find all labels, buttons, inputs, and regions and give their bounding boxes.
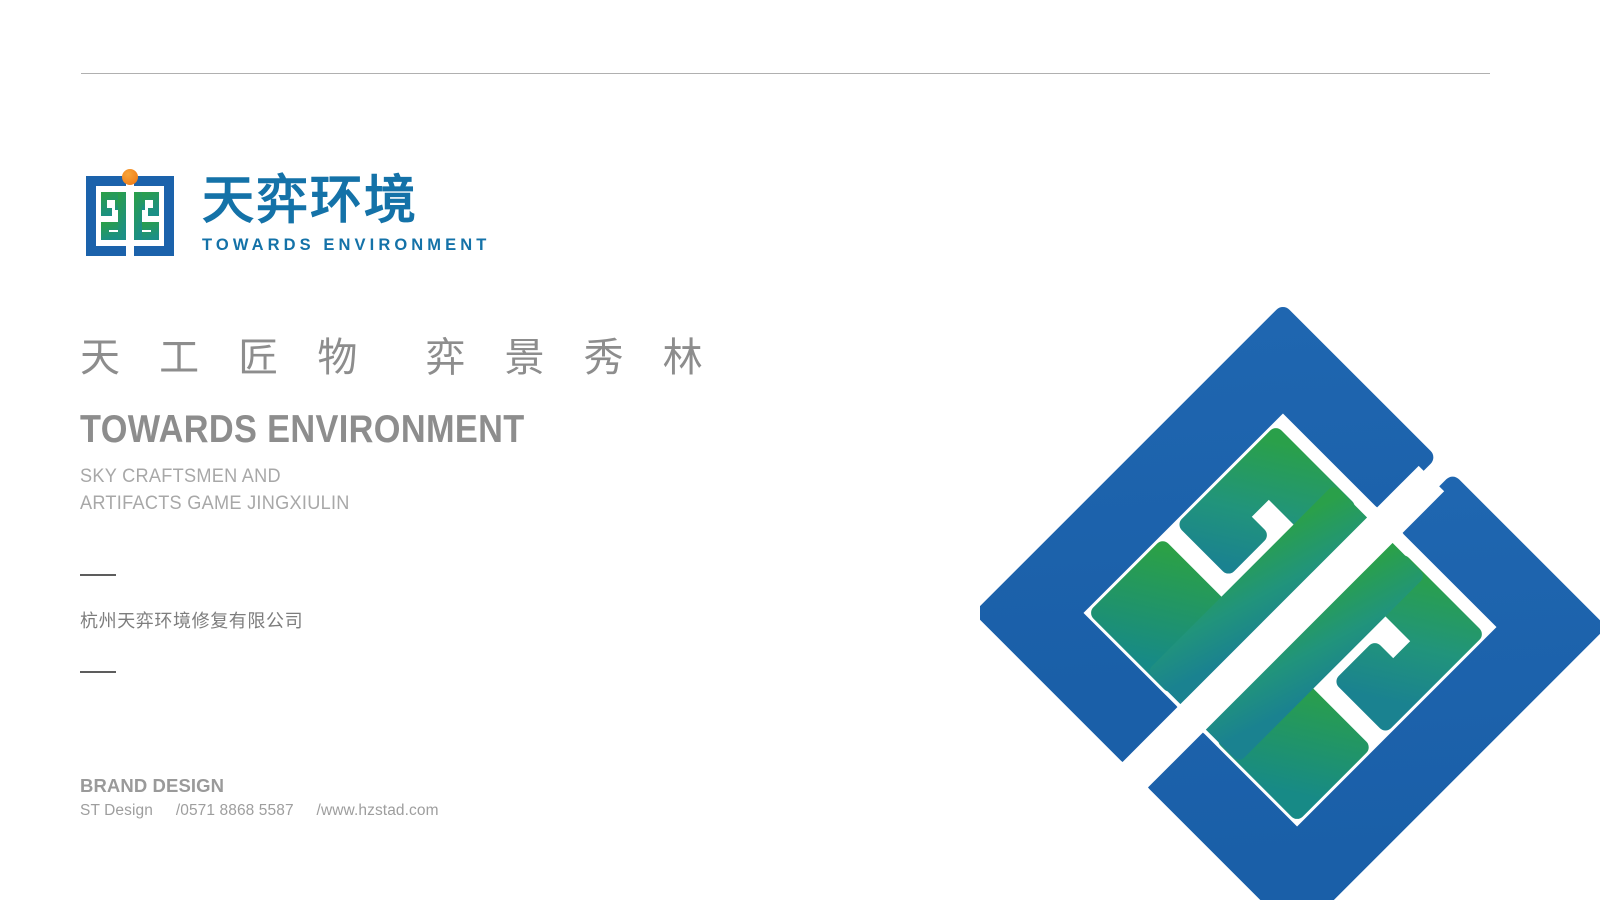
company-name: 杭州天弈环境修复有限公司 bbox=[80, 607, 303, 633]
logo-text-block: 天弈环境 TOWARDS ENVIRONMENT bbox=[202, 168, 490, 255]
footer-title: BRAND DESIGN bbox=[80, 775, 224, 797]
corner-decoration bbox=[980, 280, 1600, 900]
orange-dot-icon bbox=[122, 169, 138, 185]
slogan-subtitle: SKY CRAFTSMEN AND ARTIFACTS GAME JINGXIU… bbox=[80, 463, 350, 517]
footer-website: /www.hzstad.com bbox=[317, 802, 439, 819]
footer-studio: ST Design bbox=[80, 802, 153, 819]
brand-logo-lockup: 天弈环境 TOWARDS ENVIRONMENT bbox=[80, 168, 490, 260]
slogan-english: TOWARDS ENVIRONMENT bbox=[80, 408, 525, 452]
logo-chinese-wordmark: 天弈环境 bbox=[202, 170, 490, 232]
logo-english-wordmark: TOWARDS ENVIRONMENT bbox=[202, 236, 490, 255]
svg-text:天弈环境: 天弈环境 bbox=[202, 171, 418, 231]
divider-dash-bottom bbox=[80, 671, 116, 673]
top-divider-rule bbox=[81, 73, 1490, 74]
divider-dash-top bbox=[80, 574, 116, 576]
slogan-chinese: 天 工 匠 物 弈 景 秀 林 bbox=[80, 325, 717, 383]
slogan-subtitle-line-2: ARTIFACTS GAME JINGXIULIN bbox=[80, 490, 350, 517]
logo-mark-icon bbox=[80, 168, 180, 260]
footer-phone: /0571 8868 5587 bbox=[176, 802, 294, 819]
footer-meta: ST Design /0571 8868 5587 /www.hzstad.co… bbox=[80, 802, 439, 820]
slogan-subtitle-line-1: SKY CRAFTSMEN AND bbox=[80, 463, 350, 490]
